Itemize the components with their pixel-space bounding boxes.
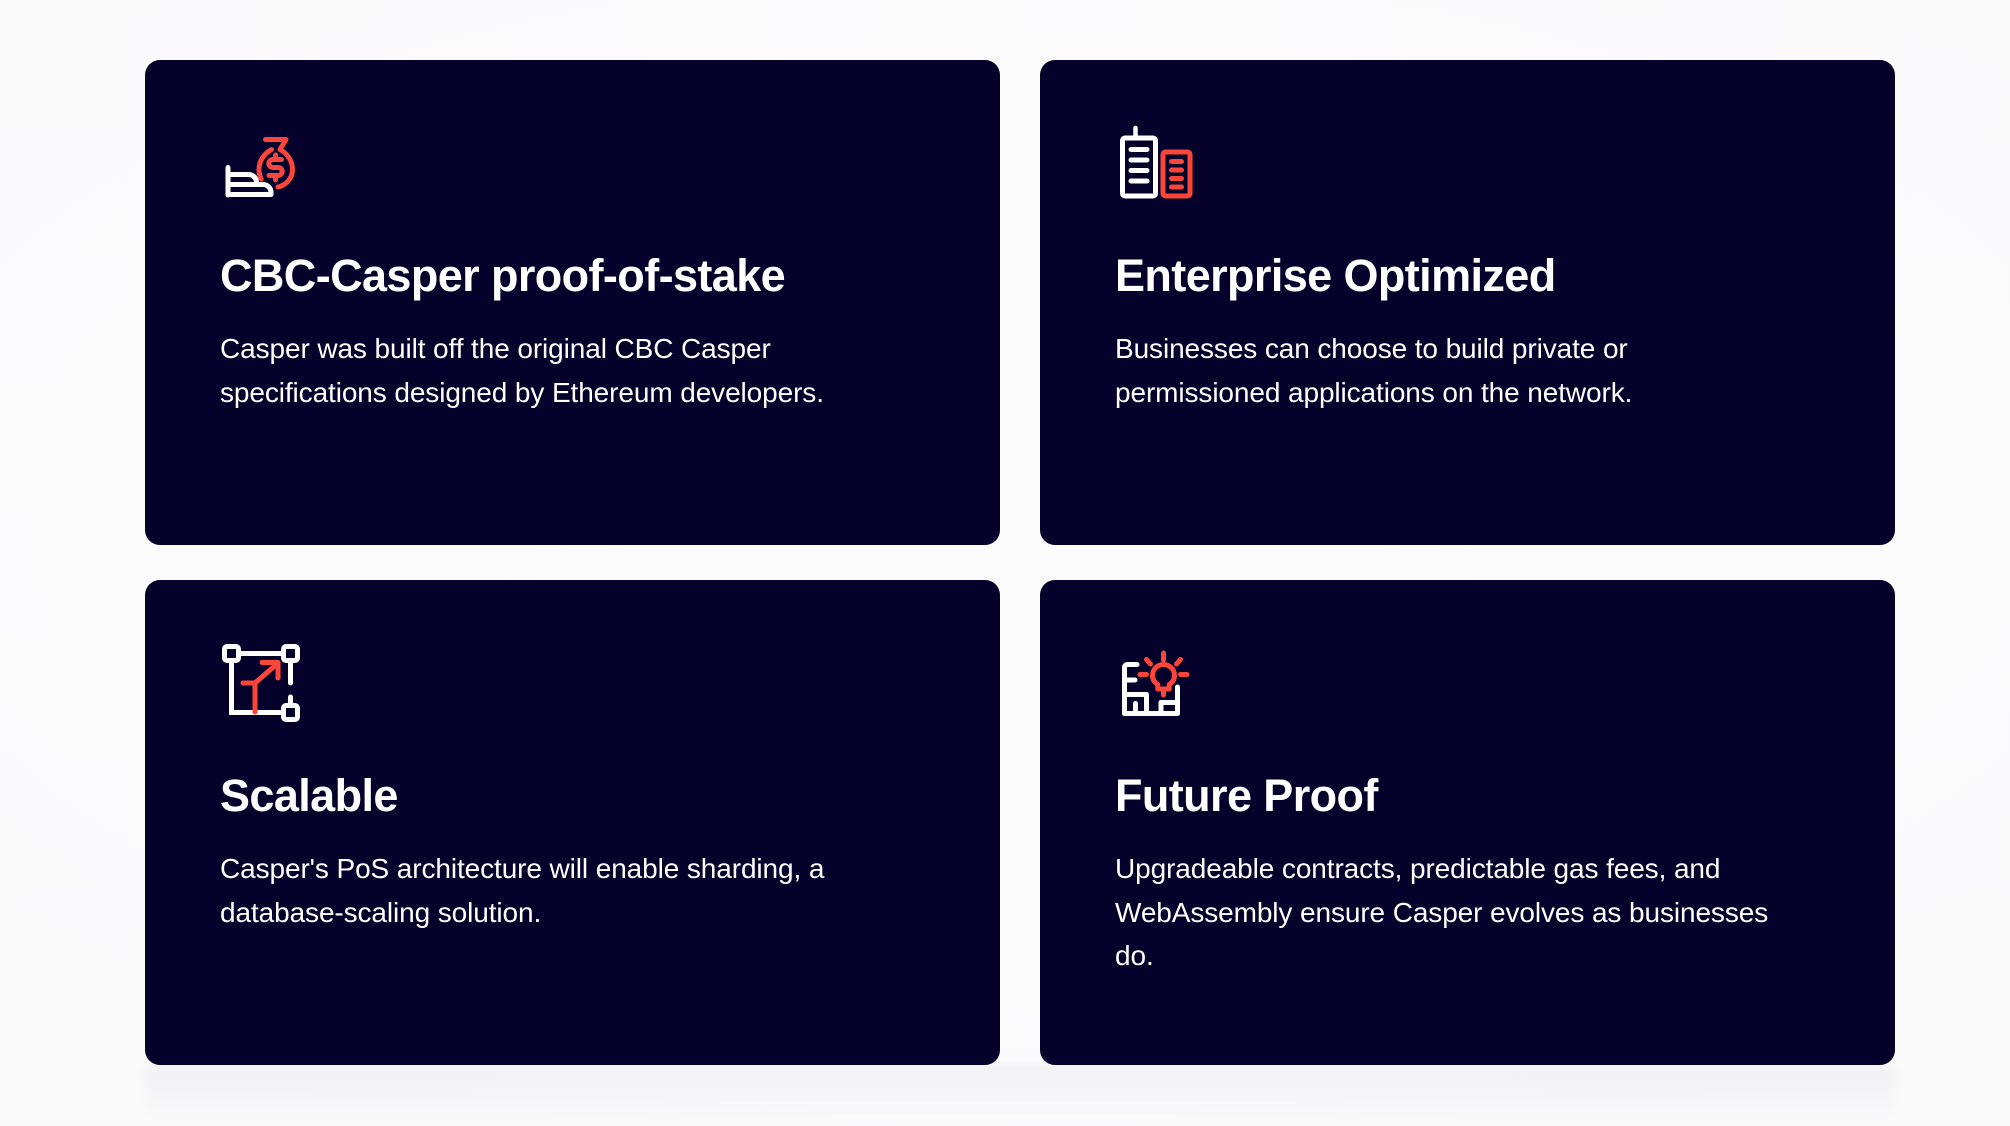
card-body: Businesses can choose to build private o… <box>1115 327 1795 414</box>
card-body: Upgradeable contracts, predictable gas f… <box>1115 847 1795 977</box>
card-title: Scalable <box>220 772 925 819</box>
feature-card-enterprise-optimized[interactable]: Enterprise Optimized Businesses can choo… <box>1040 60 1895 545</box>
features-grid: CBC-Casper proof-of-stake Casper was bui… <box>145 60 1895 1065</box>
money-bag-bed-icon <box>220 122 302 204</box>
office-buildings-icon <box>1115 122 1197 204</box>
card-title: Future Proof <box>1115 772 1820 819</box>
card-body: Casper's PoS architecture will enable sh… <box>220 847 900 934</box>
card-title: Enterprise Optimized <box>1115 252 1820 299</box>
feature-card-scalable[interactable]: Scalable Casper's PoS architecture will … <box>145 580 1000 1065</box>
card-title: CBC-Casper proof-of-stake <box>220 252 925 299</box>
scale-arrow-icon <box>220 642 302 724</box>
card-body: Casper was built off the original CBC Ca… <box>220 327 900 414</box>
feature-card-cbc-casper-proof-of-stake[interactable]: CBC-Casper proof-of-stake Casper was bui… <box>145 60 1000 545</box>
feature-card-future-proof[interactable]: Future Proof Upgradeable contracts, pred… <box>1040 580 1895 1065</box>
lightbulb-blueprint-icon <box>1115 642 1197 724</box>
